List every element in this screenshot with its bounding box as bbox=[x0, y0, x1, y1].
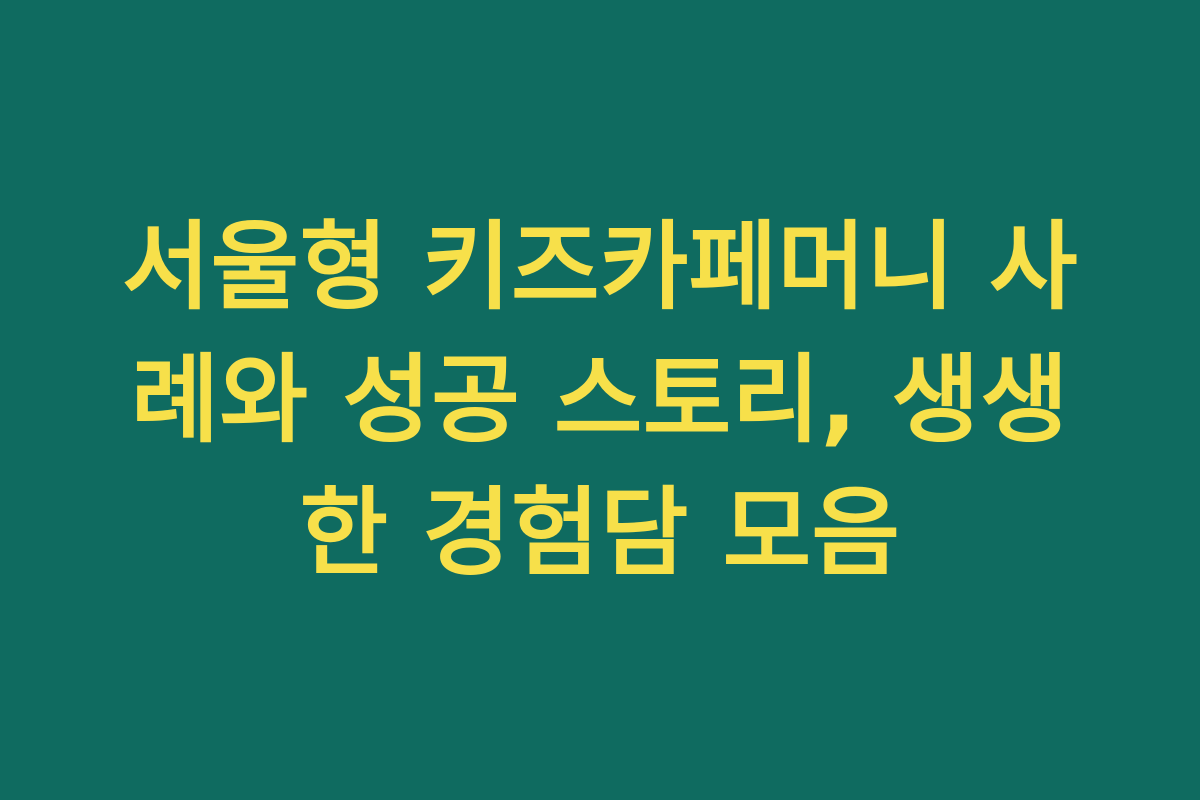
headline-line-1: 서울형 키즈카페머니 사 bbox=[105, 201, 1095, 334]
headline-line-2: 례와 성공 스토리, 생생 bbox=[105, 334, 1095, 467]
headline-line-3: 한 경험담 모음 bbox=[105, 467, 1095, 600]
headline-text: 서울형 키즈카페머니 사 례와 성공 스토리, 생생 한 경험담 모음 bbox=[105, 201, 1095, 600]
title-card: 서울형 키즈카페머니 사 례와 성공 스토리, 생생 한 경험담 모음 bbox=[0, 0, 1200, 800]
